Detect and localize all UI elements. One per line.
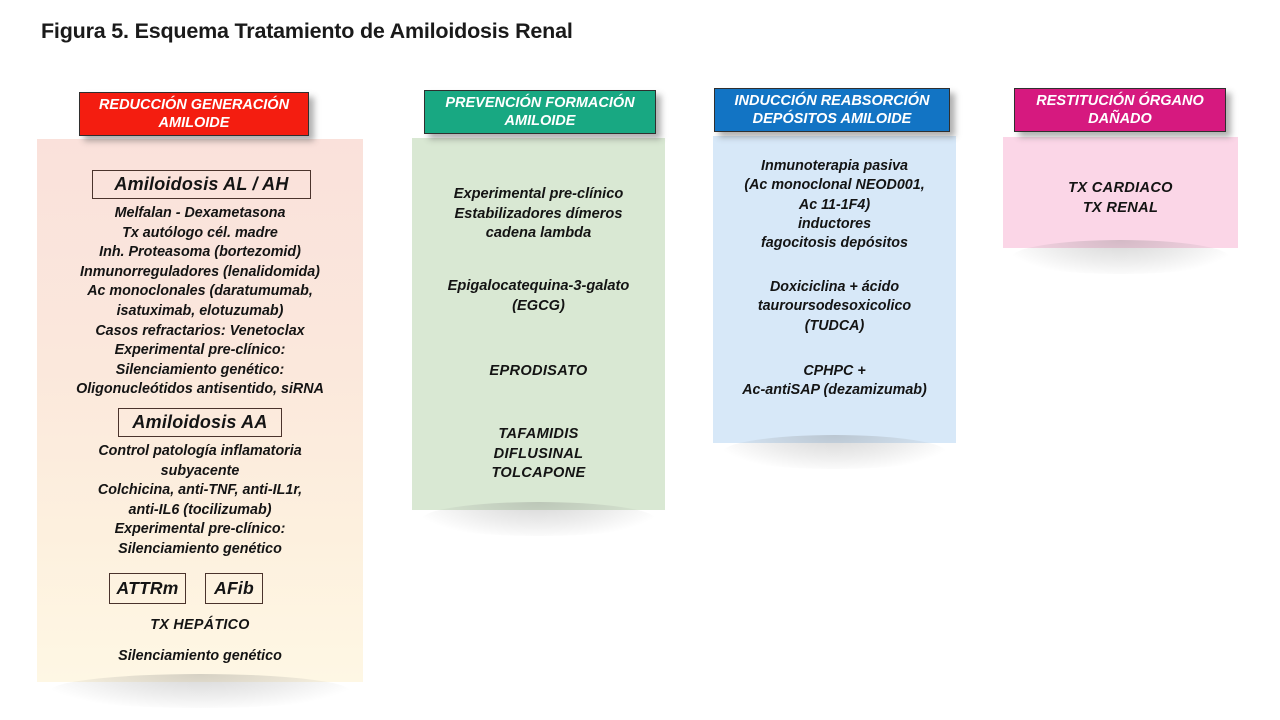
panel-restitucion-organo-danado: TX CARDIACO TX RENAL (1003, 137, 1238, 248)
subbox-afib: AFib (205, 573, 263, 604)
text-eprodisato: EPRODISATO (412, 362, 665, 382)
text-tafamidis-group: TAFAMIDIS DIFLUSINAL TOLCAPONE (412, 425, 665, 484)
subbox-attrm: ATTRm (109, 573, 186, 604)
subbox-amiloidosis-al-ah: Amiloidosis AL / AH (92, 170, 311, 199)
panel-prevencion-formacion-amiloide: Experimental pre-clínico Estabilizadores… (412, 138, 665, 510)
text-doxiciclina-tudca: Doxiciclina + ácido tauroursodesoxicolic… (713, 278, 956, 336)
text-cphpc-antisap: CPHPC + Ac-antiSAP (dezamizumab) (713, 362, 956, 401)
text-inmunoterapia-pasiva: Inmunoterapia pasiva (Ac monoclonal NEOD… (713, 157, 956, 253)
subbox-amiloidosis-aa: Amiloidosis AA (118, 408, 282, 437)
panel-body-4: TX CARDIACO TX RENAL (1003, 137, 1238, 248)
panel-body-1: Amiloidosis AL / AH Melfalan - Dexametas… (37, 139, 363, 682)
text-silenciamiento-genetico: Silenciamiento genético (39, 647, 361, 667)
text-amiloidosis-al-ah-treatments: Melfalan - Dexametasona Tx autólogo cél.… (39, 204, 361, 400)
text-egcg: Epigalocatequina-3-galato (EGCG) (412, 277, 665, 316)
column-header-prevencion-formacion-amiloide: PREVENCIÓN FORMACIÓN AMILOIDE (424, 90, 656, 134)
column-header-restitucion-organo-danado: RESTITUCIÓN ÓRGANO DAÑADO (1014, 88, 1226, 132)
panel-body-2: Experimental pre-clínico Estabilizadores… (412, 138, 665, 510)
panel-reduccion-generacion-amiloide: Amiloidosis AL / AH Melfalan - Dexametas… (37, 139, 363, 682)
text-tx-cardiaco-renal: TX CARDIACO TX RENAL (1003, 178, 1238, 218)
text-tx-hepatico: TX HEPÁTICO (39, 616, 361, 636)
column-header-induccion-reabsorcion-depositos-amiloide: INDUCCIÓN REABSORCIÓN DEPÓSITOS AMILOIDE (714, 88, 950, 132)
column-header-reduccion-generacion-amiloide: REDUCCIÓN GENERACIÓN AMILOIDE (79, 92, 309, 136)
figure-canvas: Figura 5. Esquema Tratamiento de Amiloid… (0, 0, 1280, 720)
text-amiloidosis-aa-treatments: Control patología inflamatoria subyacent… (41, 442, 359, 560)
figure-title: Figura 5. Esquema Tratamiento de Amiloid… (41, 19, 573, 44)
text-estabilizadores-dimeros: Experimental pre-clínico Estabilizadores… (412, 185, 665, 244)
panel-body-3: Inmunoterapia pasiva (Ac monoclonal NEOD… (713, 136, 956, 443)
panel-induccion-reabsorcion-depositos-amiloide: Inmunoterapia pasiva (Ac monoclonal NEOD… (713, 136, 956, 443)
